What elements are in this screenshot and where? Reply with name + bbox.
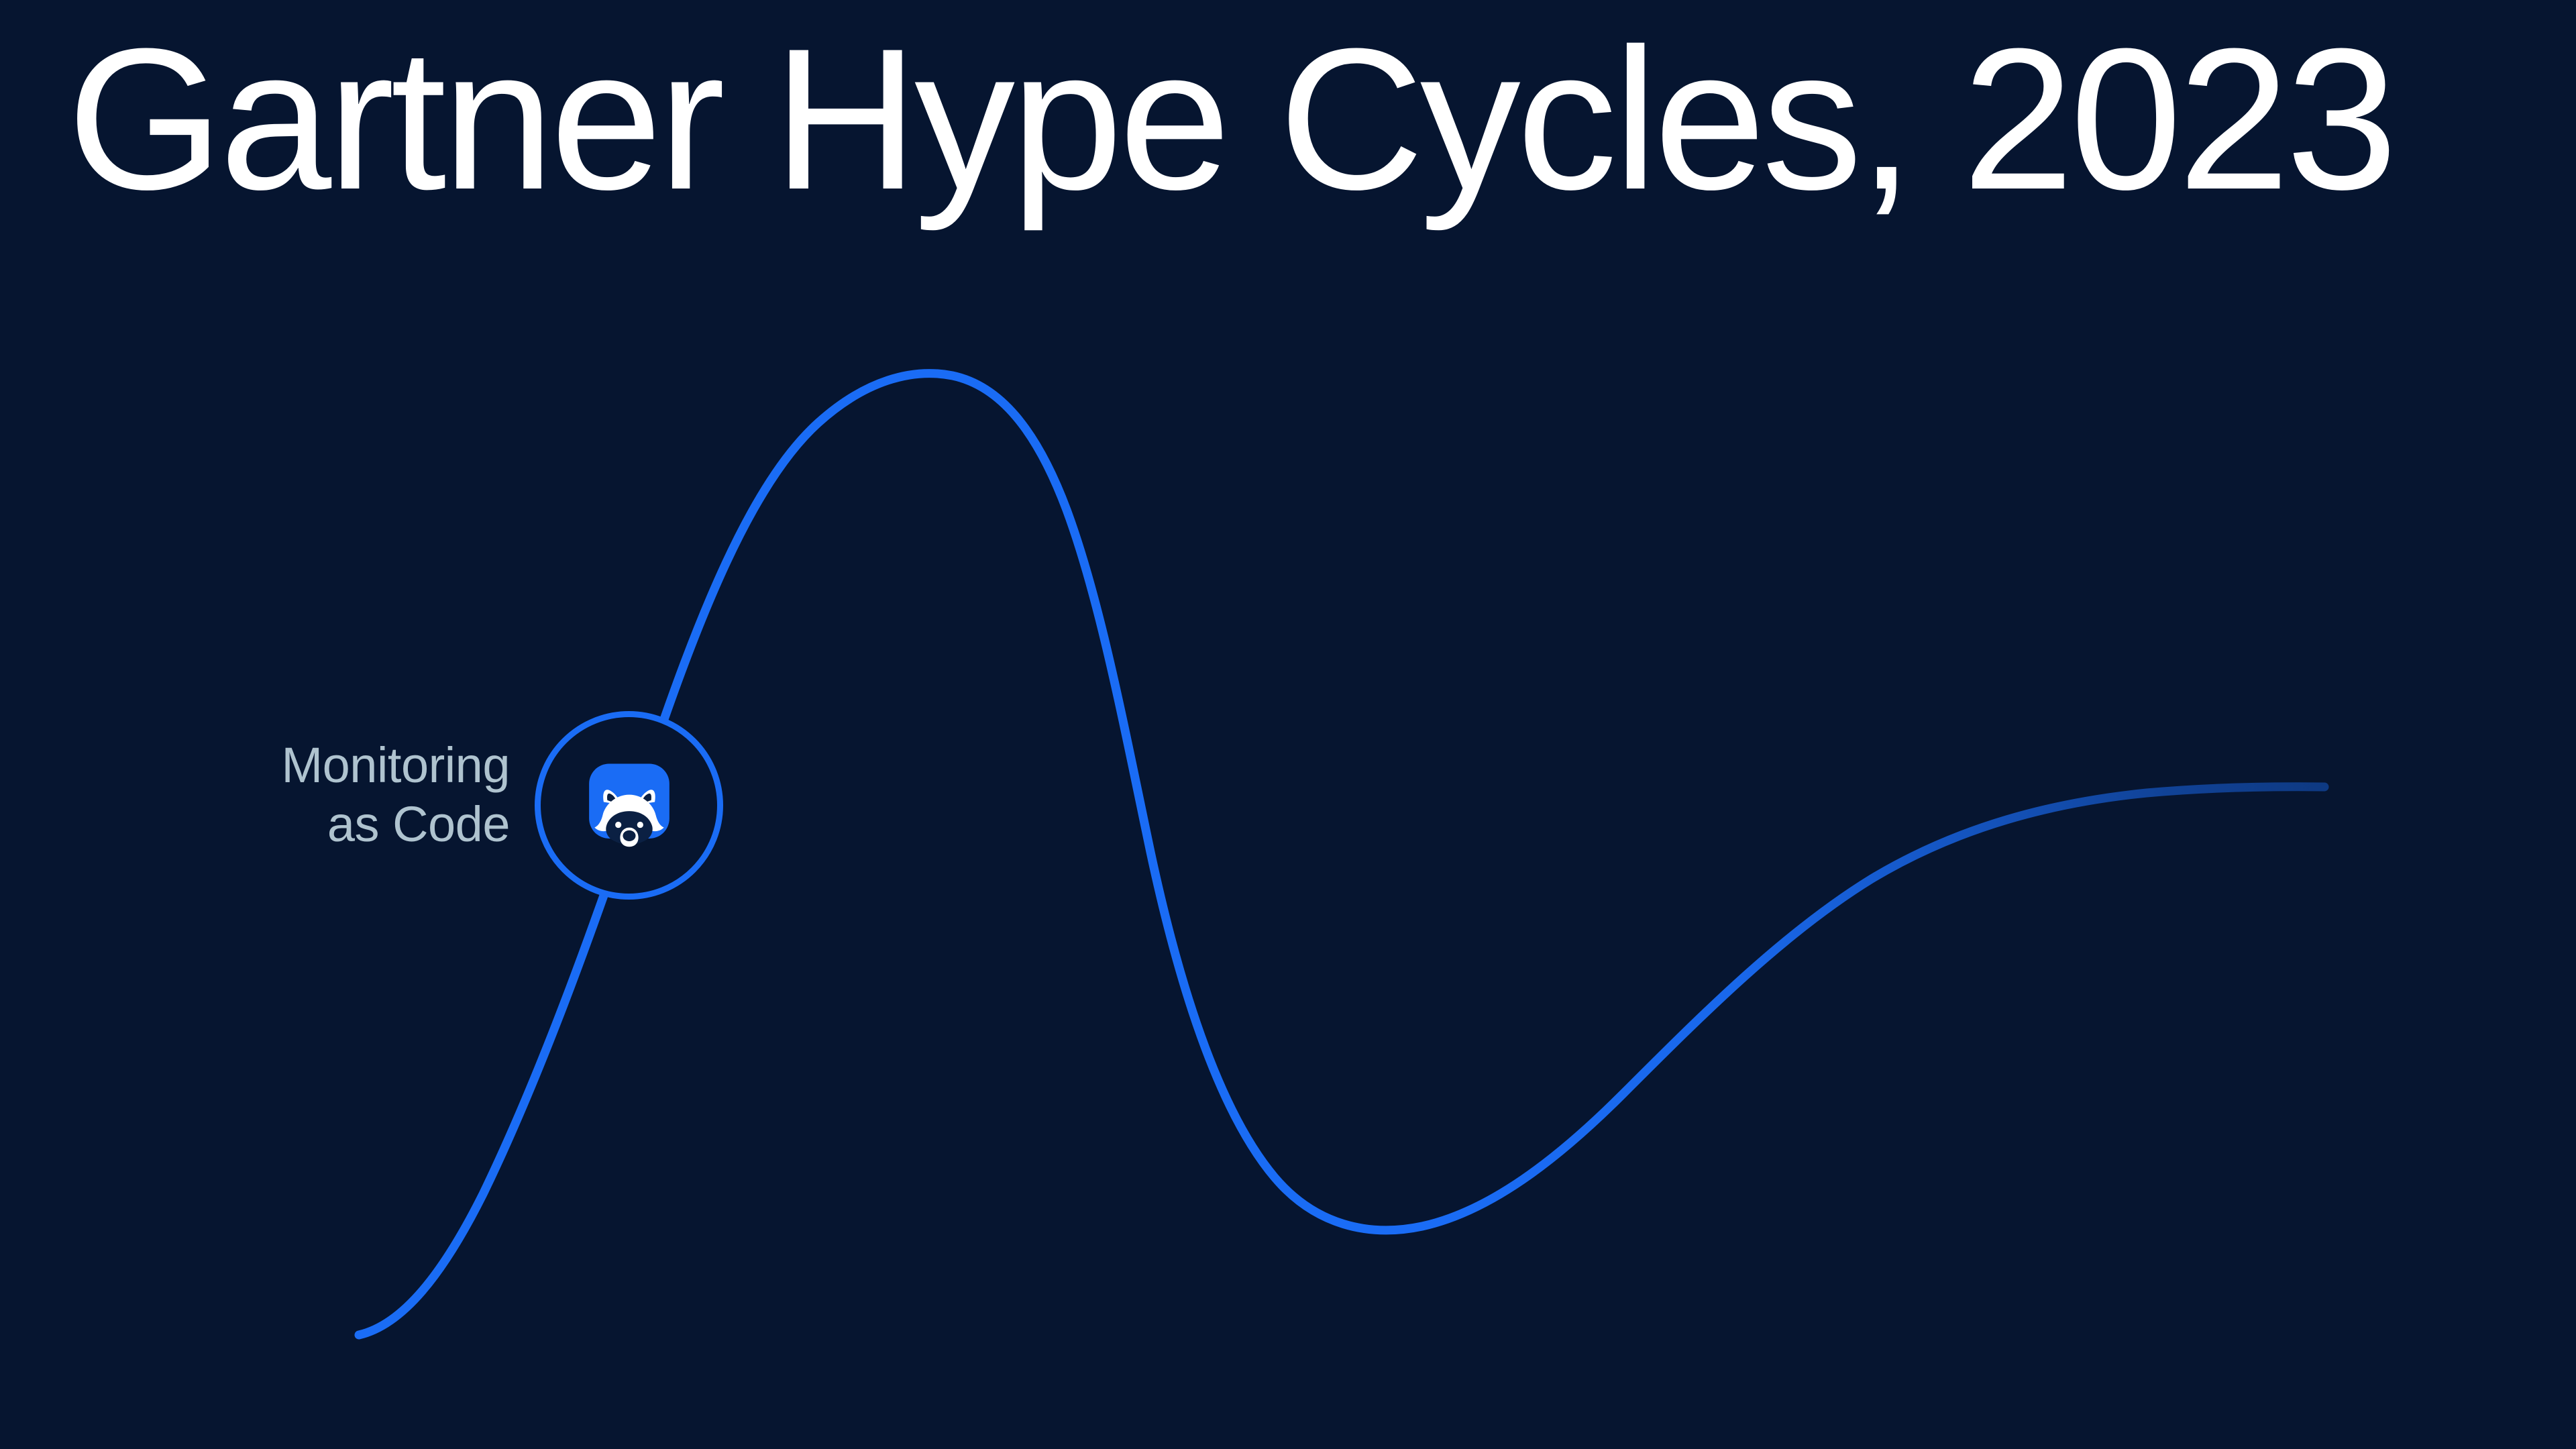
checkly-raccoon-logo-icon xyxy=(584,760,675,851)
hype-cycle-slide: Gartner Hype Cycles, 2023 Monitoring as … xyxy=(0,0,2576,1449)
page-title: Gartner Hype Cycles, 2023 xyxy=(67,12,2536,225)
marker-label-line-1: Monitoring xyxy=(0,736,510,795)
marker-badge-monitoring-as-code[interactable] xyxy=(535,711,723,900)
marker-label-line-2: as Code xyxy=(0,795,510,854)
marker-label: Monitoring as Code xyxy=(0,736,510,854)
